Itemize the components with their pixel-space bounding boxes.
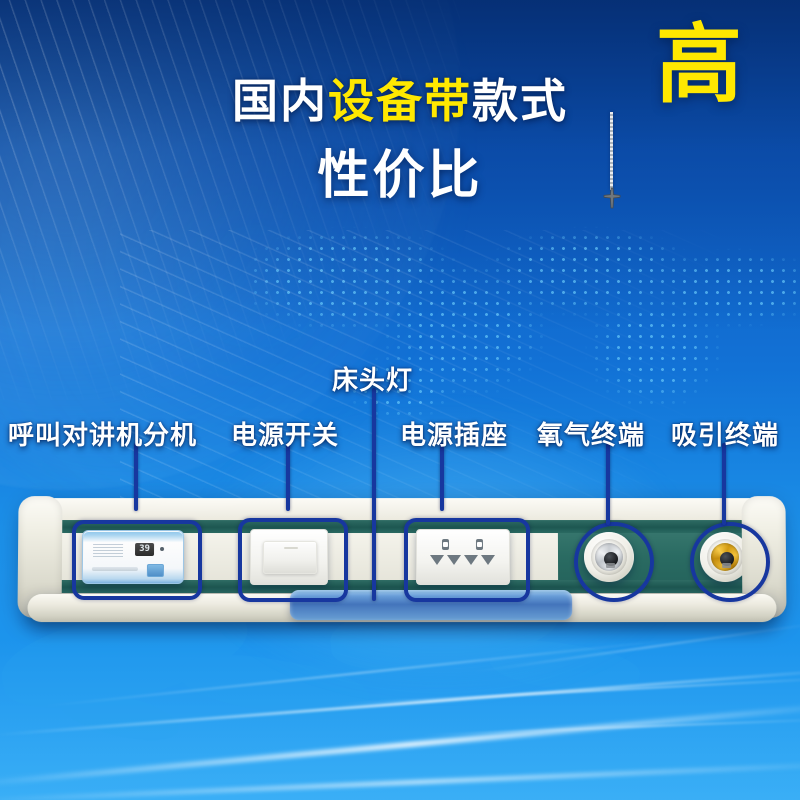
callout-label-intercom: 呼叫对讲机分机 xyxy=(8,415,197,452)
leader-line-oxygen-outlet xyxy=(606,443,610,525)
headline-block: 国内设备带款式 性价比 xyxy=(0,78,800,202)
highlight-box-power-socket xyxy=(404,518,530,602)
headline-part-yellow: 设备带 xyxy=(328,75,472,127)
light-streak xyxy=(0,666,800,737)
headline-line-1: 国内设备带款式 xyxy=(0,78,800,124)
callout-label-power-switch: 电源开关 xyxy=(231,415,339,452)
highlight-circle-oxygen xyxy=(574,522,654,602)
light-streak xyxy=(0,761,800,800)
bed-head-unit-panel: 39 xyxy=(22,498,782,628)
highlight-box-power-switch xyxy=(238,518,348,602)
callout-label-suction-outlet: 吸引终端 xyxy=(671,415,779,452)
leader-line-bed-lamp xyxy=(372,388,376,601)
leader-line-power-socket xyxy=(440,443,444,511)
light-streak xyxy=(420,718,800,736)
bottom-glow xyxy=(0,640,800,800)
light-streak xyxy=(0,701,800,788)
highlight-box-intercom xyxy=(72,520,202,600)
leader-line-suction-outlet xyxy=(722,443,726,525)
headline-part-white-b: 款式 xyxy=(472,75,568,127)
callout-label-power-socket: 电源插座 xyxy=(400,415,508,452)
light-streak xyxy=(42,639,679,708)
banner-canvas: 国内设备带款式 性价比 高 呼叫对讲机分机 电源开关 床头灯 电源插座 氧气终端… xyxy=(0,0,800,800)
leader-line-power-switch xyxy=(286,443,290,511)
headline-part-white-a: 国内 xyxy=(232,75,328,127)
leader-line-intercom xyxy=(134,443,138,511)
highlight-circle-suction xyxy=(690,522,770,602)
callout-label-bed-lamp: 床头灯 xyxy=(332,360,413,397)
headline-line-2: 性价比 xyxy=(0,150,800,202)
light-streak xyxy=(330,676,800,705)
world-map-silhouette xyxy=(0,600,670,800)
light-streak xyxy=(472,621,800,673)
callout-label-oxygen-outlet: 氧气终端 xyxy=(537,415,645,452)
